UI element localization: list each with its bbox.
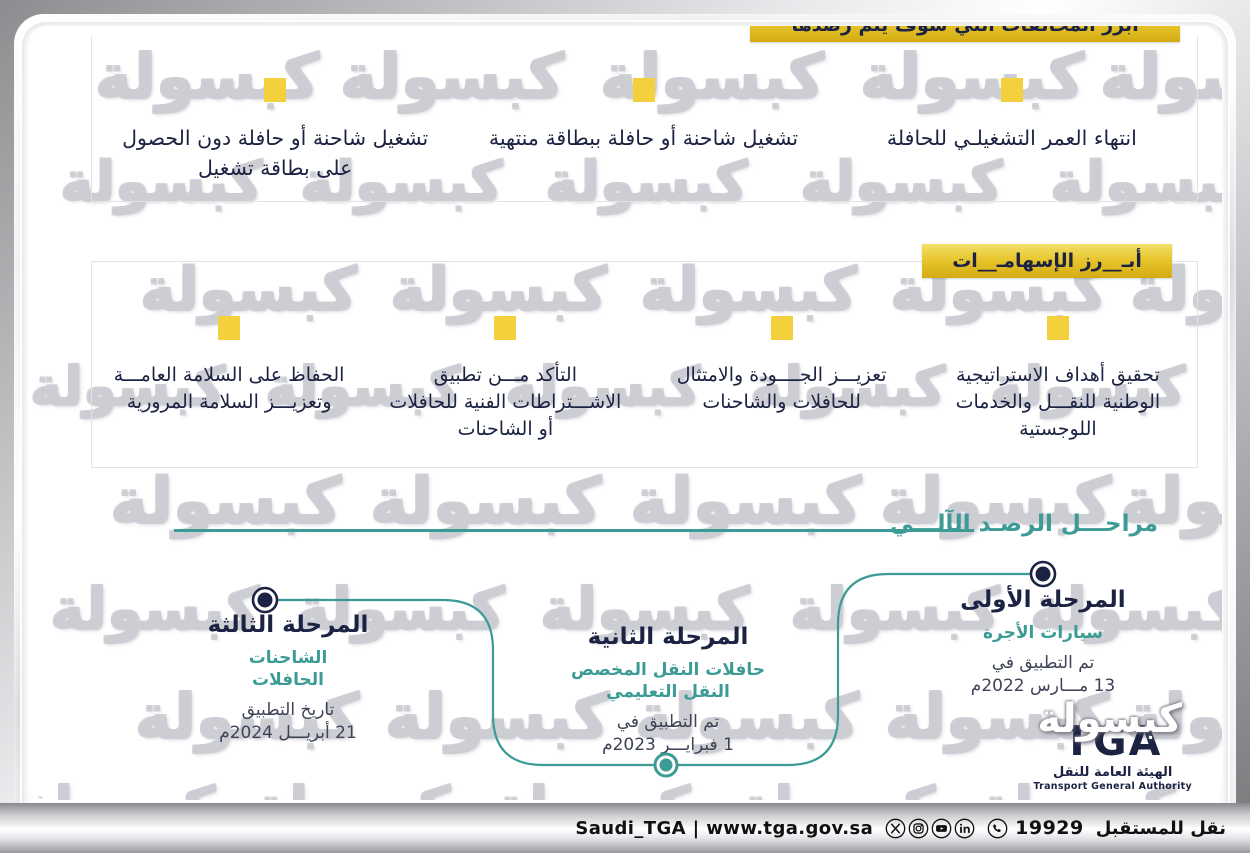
timeline-node-stage-2	[651, 750, 681, 780]
yellow-square-icon	[264, 78, 286, 102]
contribution-text: الحفاظ على السلامة العامـــة وتعزيـــز ا…	[105, 362, 353, 416]
yellow-square-icon	[771, 316, 793, 340]
stage-3-subject: الشاحنات الحافلات	[143, 647, 433, 691]
contribution-item: تعزيـــز الجــــودة والامتثال للحافلات و…	[644, 316, 920, 476]
contributions-section-title: أبـ__رز الإسهامـ__ات	[922, 244, 1172, 278]
contribution-item: التأكد مـــن تطبيق الاشـــتراطات الفنية …	[367, 316, 643, 476]
violation-text: انتهاء العمر التشغيلـي للحافلة	[887, 124, 1137, 154]
yellow-square-icon	[1047, 316, 1069, 340]
footer-phone-number: 19929	[1015, 817, 1084, 839]
instagram-icon[interactable]	[908, 818, 929, 839]
tga-logo-name-en: Transport General Authority	[1033, 781, 1192, 792]
footer-socials	[885, 818, 975, 839]
youtube-icon[interactable]	[931, 818, 952, 839]
footer-bar: نقل للمستقبل 19929	[0, 803, 1250, 853]
violations-section-title: أبرز المخالفات التي سوف يتم رصدها	[750, 26, 1180, 42]
tga-logo-name-ar: الهيئة العامة للنقل	[1033, 765, 1192, 780]
violations-list: انتهاء العمر التشغيلـي للحافلة تشغيل شاح…	[91, 78, 1196, 203]
yellow-square-icon	[1001, 78, 1023, 102]
timeline-node-stage-3	[250, 585, 280, 615]
stage-3-date: تاريخ التطبيق 21 أبريـــل 2024م	[143, 699, 433, 745]
watermark-brand-text: كبسولة	[1037, 696, 1182, 742]
footer-phone: 19929	[987, 817, 1084, 839]
stage-1-date: تم التطبيق في 13 مـــارس 2022م	[888, 652, 1198, 698]
linkedin-icon[interactable]	[954, 818, 975, 839]
violation-text: تشغيل شاحنة أو حافلة دون الحصول على بطاق…	[109, 124, 441, 183]
violation-item: تشغيل شاحنة أو حافلة ببطاقة منتهية	[459, 78, 827, 203]
timeline-node-stage-1	[1028, 559, 1058, 589]
stage-3-title: المرحلة الثالثة	[143, 611, 433, 640]
timeline-section-title: مراحـــل الرصـد الآلـــي	[890, 511, 1158, 537]
stage-2-subject-line-2: النقل التعليمي	[523, 681, 813, 703]
x-icon[interactable]	[885, 818, 906, 839]
violation-text: تشغيل شاحنة أو حافلة ببطاقة منتهية	[489, 124, 798, 154]
stage-1-date-label: تم التطبيق في	[888, 652, 1198, 675]
timeline-stage-2: المرحلة الثانية حافلات النقل المخصص النق…	[523, 623, 813, 757]
yellow-square-icon	[494, 316, 516, 340]
stage-1-date-value: 13 مـــارس 2022م	[888, 675, 1198, 698]
violation-item: انتهاء العمر التشغيلـي للحافلة	[828, 78, 1196, 203]
contribution-item: تحقيق أهداف الاستراتيجية الوطنية للنقـــ…	[920, 316, 1196, 476]
footer-tagline: نقل للمستقبل	[1096, 818, 1226, 839]
contributions-list: تحقيق أهداف الاستراتيجية الوطنية للنقـــ…	[91, 316, 1196, 476]
stage-2-subject-line-1: حافلات النقل المخصص	[523, 659, 813, 681]
stage-3-date-value: 21 أبريـــل 2024م	[143, 722, 433, 745]
stage-3-subject-line-2: الحافلات	[143, 669, 433, 691]
footer-handle: Saudi_TGA | www.tga.gov.sa	[575, 818, 873, 839]
violation-item: تشغيل شاحنة أو حافلة دون الحصول على بطاق…	[91, 78, 459, 203]
timeline-stage-1: المرحلة الأولى سيارات الأجرة تم التطبيق …	[888, 586, 1198, 698]
footer-content: نقل للمستقبل 19929	[575, 817, 1250, 839]
stage-1-subject: سيارات الأجرة	[888, 622, 1198, 644]
contribution-text: التأكد مـــن تطبيق الاشـــتراطات الفنية …	[381, 362, 629, 443]
stage-1-title: المرحلة الأولى	[888, 586, 1198, 615]
contribution-text: تعزيـــز الجــــودة والامتثال للحافلات و…	[658, 362, 906, 416]
stage-2-date-label: تم التطبيق في	[523, 711, 813, 734]
yellow-square-icon	[633, 78, 655, 102]
infographic-canvas: كبسولةكبسولةكبسولةكبسولةكبسولةكبسولةكبسو…	[28, 26, 1222, 800]
phone-icon	[987, 818, 1008, 839]
contribution-item: الحفاظ على السلامة العامـــة وتعزيـــز ا…	[91, 316, 367, 476]
contribution-text: تحقيق أهداف الاستراتيجية الوطنية للنقـــ…	[934, 362, 1182, 443]
stage-3-subject-line-1: الشاحنات	[143, 647, 433, 669]
yellow-square-icon	[218, 316, 240, 340]
timeline-stage-3: المرحلة الثالثة الشاحنات الحافلات تاريخ …	[143, 611, 433, 745]
stage-2-title: المرحلة الثانية	[523, 623, 813, 652]
stage-3-date-label: تاريخ التطبيق	[143, 699, 433, 722]
stage-2-subject: حافلات النقل المخصص النقل التعليمي	[523, 659, 813, 703]
